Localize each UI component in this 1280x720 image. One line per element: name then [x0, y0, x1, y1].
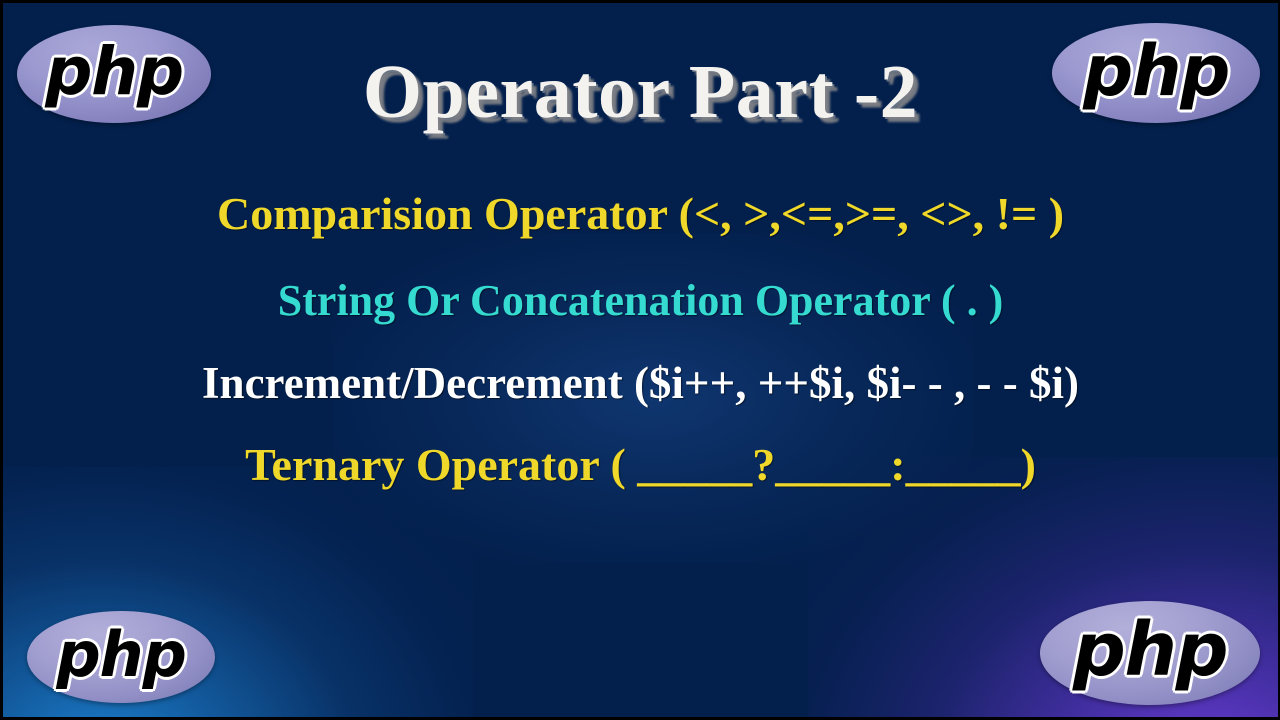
php-logo-text: php: [56, 631, 185, 679]
comparison-operator-line: Comparision Operator (<, >,<=,>=, <>, !=…: [3, 191, 1278, 237]
concatenation-operator-line: String Or Concatenation Operator ( . ): [3, 279, 1278, 323]
operator-list: Comparision Operator (<, >,<=,>=, <>, !=…: [3, 191, 1278, 488]
php-logo-text: php: [1073, 622, 1227, 680]
slide-canvas: php php php php Operator Part -2 Compari…: [0, 0, 1280, 720]
increment-decrement-operator-line: Increment/Decrement ($i++, ++$i, $i- - ,…: [3, 361, 1278, 406]
ternary-operator-line: Ternary Operator ( _____?_____:_____): [3, 442, 1278, 488]
php-logo-bottom-left: php: [27, 611, 215, 703]
slide-title: Operator Part -2: [3, 49, 1278, 136]
php-logo-bottom-right: php: [1040, 601, 1260, 705]
